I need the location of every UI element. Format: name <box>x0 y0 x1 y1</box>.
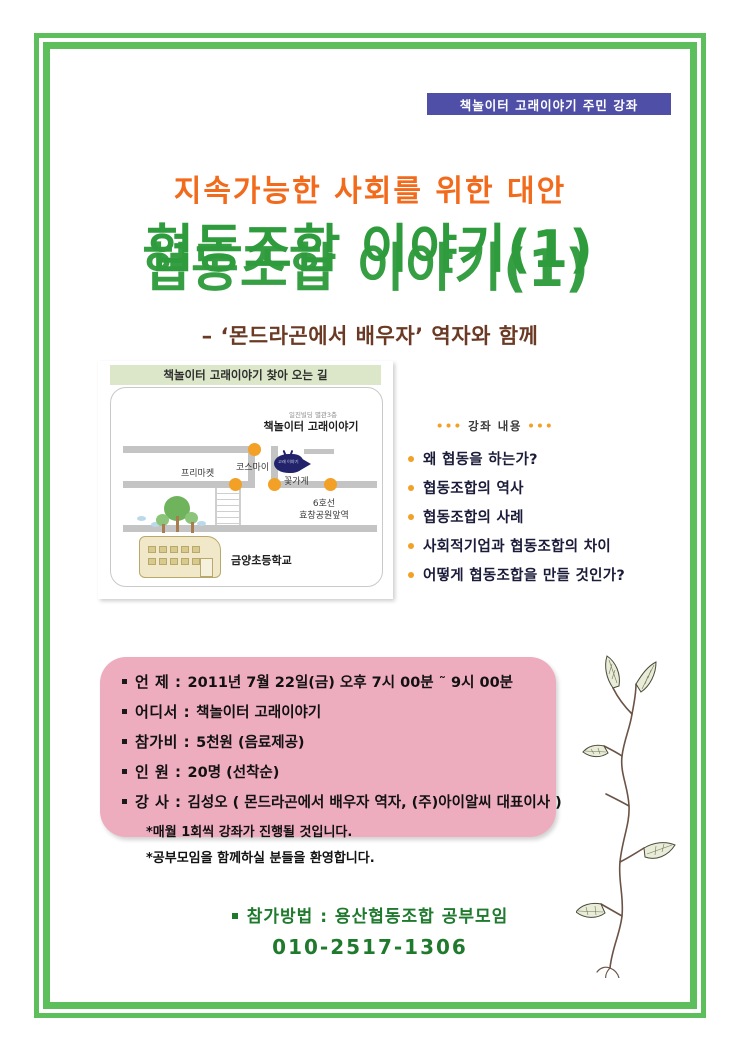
map-crosswalk <box>215 488 241 525</box>
square-bullet-icon <box>122 739 127 744</box>
detail-row-capacity: 인 원 : 20명 (선착순) <box>122 761 562 782</box>
lecture-topic-3: 협동조합의 사례 <box>423 506 524 527</box>
whale-logo-caption: 고래 이야기 <box>278 459 299 464</box>
detail-label-capacity: 인 원 : <box>135 761 182 782</box>
map-road-upper-left <box>123 446 255 453</box>
title-description: – ‘몬드라곤에서 배우자’ 역자와 함께 <box>0 320 740 350</box>
contact-method-text: 참가방법 : 용산협동조합 공부모임 <box>247 907 509 927</box>
square-bullet-icon <box>122 769 127 774</box>
bullet-dot-icon <box>408 485 414 491</box>
main-title-group: 협동조합 이야기(1) 협동조합 이야기(1) <box>0 222 740 304</box>
square-bullet-icon <box>232 913 238 919</box>
map-dot-freemarket <box>229 478 242 491</box>
map-label-school: 금양초등학교 <box>231 552 292 568</box>
detail-value-when: 2011년 7월 22일(금) 오후 7시 00분 ˜ 9시 00분 <box>188 671 513 692</box>
contact-footer: 참가방법 : 용산협동조합 공부모임 010-2517-1306 <box>0 902 740 959</box>
map-tree-large-trunk <box>176 516 179 532</box>
heading-label: 강좌 내용 <box>468 419 522 433</box>
poster-root: 책놀이터 고래이야기 주민 강좌 지속가능한 사회를 위한 대안 협동조합 이야… <box>0 0 740 1047</box>
lecture-topic-1: 왜 협동을 하는가? <box>423 448 538 469</box>
lecture-topic-4: 사회적기업과 협동조합의 차이 <box>423 535 611 556</box>
detail-row-fee: 참가비 : 5천원 (음료제공) <box>122 731 562 752</box>
map-tree-small1-trunk <box>162 524 165 533</box>
map-label-freemarket: 프리마켓 <box>181 466 214 479</box>
detail-label-where: 어디서 : <box>135 701 190 722</box>
list-item: 왜 협동을 하는가? <box>408 448 625 469</box>
list-item: 협동조합의 역사 <box>408 477 625 498</box>
map-label-kosmai: 코스마이 <box>236 460 269 473</box>
map-dot-station <box>324 478 337 491</box>
map-bush-1 <box>137 516 146 521</box>
list-item: 어떻게 협동조합을 만들 것인가? <box>408 564 625 585</box>
map-label-station: 효창공원앞역 <box>287 508 361 521</box>
bullet-dot-icon <box>408 514 414 520</box>
detail-label-fee: 참가비 : <box>135 731 190 752</box>
detail-label-when: 언 제 : <box>135 671 182 692</box>
map-canvas: 일진빌딩 별관3층 책놀이터 고래이야기 고래 이야기 코스마이 프리마켓 꽃가… <box>110 387 383 587</box>
lecture-topic-2: 협동조합의 역사 <box>423 477 524 498</box>
bullet-dot-icon <box>408 456 414 462</box>
contact-method-line: 참가방법 : 용산협동조합 공부모임 <box>0 902 740 927</box>
contact-phone-number: 010-2517-1306 <box>0 935 740 959</box>
detail-value-fee: 5천원 (음료제공) <box>196 731 304 752</box>
detail-value-capacity: 20명 (선착순) <box>188 761 280 782</box>
heading-dots-left: ••• <box>436 419 463 433</box>
detail-note-2: *공부모임을 함께하실 분들을 환영합니다. <box>146 847 562 866</box>
bullet-dot-icon <box>408 543 414 549</box>
main-title: 협동조합 이야기(1) <box>0 224 740 276</box>
detail-row-where: 어디서 : 책놀이터 고래이야기 <box>122 701 562 722</box>
lecture-contents-heading: ••• 강좌 내용 ••• <box>436 418 625 434</box>
detail-row-lecturer: 강 사 : 김성오 ( 몬드라곤에서 배우자 역자, (주)아이알씨 대표이사 … <box>122 791 562 812</box>
lecture-contents: ••• 강좌 내용 ••• 왜 협동을 하는가? 협동조합의 역사 협동조합의 … <box>408 418 625 593</box>
map-bush-4 <box>197 521 206 526</box>
square-bullet-icon <box>122 799 127 804</box>
whale-logo-icon: 고래 이야기 <box>274 450 314 474</box>
detail-row-when: 언 제 : 2011년 7월 22일(금) 오후 7시 00분 ˜ 9시 00분 <box>122 671 562 692</box>
list-item: 협동조합의 사례 <box>408 506 625 527</box>
list-item: 사회적기업과 협동조합의 차이 <box>408 535 625 556</box>
detail-value-where: 책놀이터 고래이야기 <box>196 701 321 722</box>
program-banner: 책놀이터 고래이야기 주민 강좌 <box>427 93 671 115</box>
detail-label-lecturer: 강 사 : <box>135 791 182 812</box>
map-header-title: 책놀이터 고래이야기 찾아 오는 길 <box>110 365 381 385</box>
subtitle-tagline: 지속가능한 사회를 위한 대안 <box>0 166 740 210</box>
map-dot-flowershop <box>268 478 281 491</box>
square-bullet-icon <box>122 709 127 714</box>
square-bullet-icon <box>122 679 127 684</box>
event-details-rows: 언 제 : 2011년 7월 22일(금) 오후 7시 00분 ˜ 9시 00분… <box>122 671 562 873</box>
map-label-flowershop: 꽃가게 <box>284 474 309 487</box>
heading-dots-right: ••• <box>527 419 554 433</box>
detail-note-1: *매월 1회씩 강좌가 진행될 것입니다. <box>146 821 562 840</box>
detail-value-lecturer: 김성오 ( 몬드라곤에서 배우자 역자, (주)아이알씨 대표이사 ) <box>188 791 562 812</box>
directions-map: 책놀이터 고래이야기 찾아 오는 길 일진빌딩 별관3층 책놀이터 고래이야기 <box>98 361 393 599</box>
map-tree-small2-trunk <box>191 522 194 533</box>
map-venue-name-label: 책놀이터 고래이야기 <box>241 418 381 434</box>
map-dot-kosmai <box>248 443 261 456</box>
event-details-box: 언 제 : 2011년 7월 22일(금) 오후 7시 00분 ˜ 9시 00분… <box>100 657 556 837</box>
bullet-dot-icon <box>408 572 414 578</box>
map-school-building <box>139 536 221 578</box>
lecture-topic-5: 어떻게 협동조합을 만들 것인가? <box>423 564 625 585</box>
